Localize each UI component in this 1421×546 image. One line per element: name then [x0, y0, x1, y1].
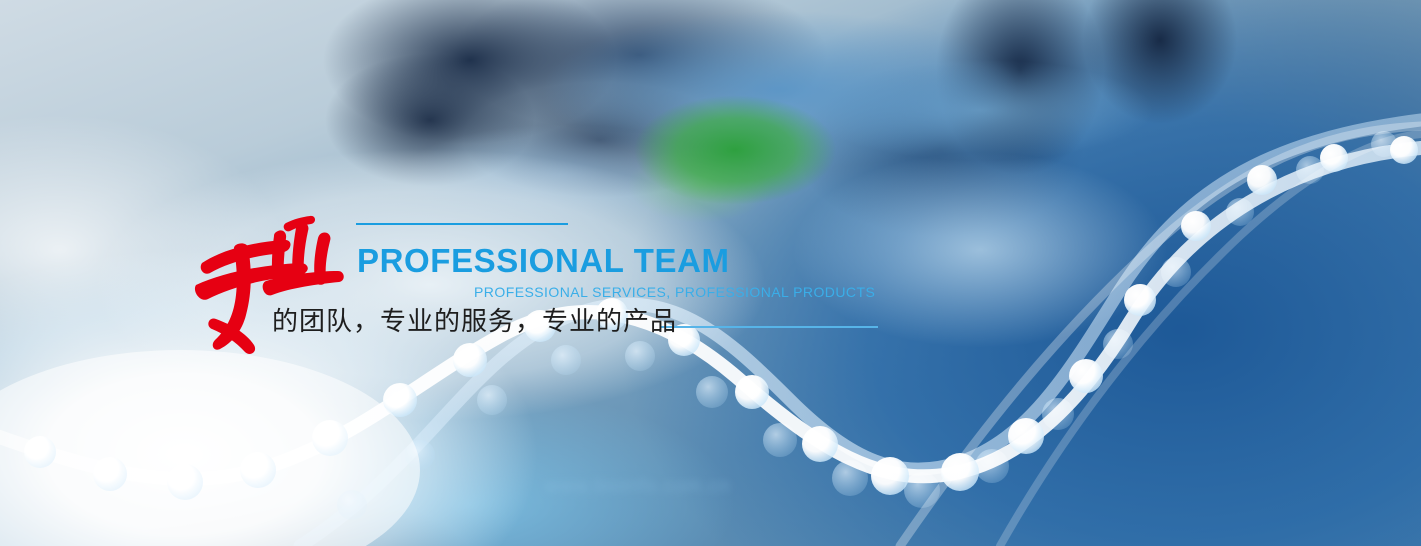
banner-content: PROFESSIONAL TEAM PROFESSIONAL SERVICES,… — [0, 0, 1421, 546]
divider-line-top — [356, 223, 568, 225]
headline-professional-team: PROFESSIONAL TEAM — [357, 244, 730, 277]
professional-team-banner: www.bioinfo.com.cn — [0, 0, 1421, 546]
chinese-tagline: 的团队，专业的服务，专业的产品 — [272, 306, 677, 339]
subheadline-services-products: PROFESSIONAL SERVICES, PROFESSIONAL PROD… — [474, 285, 875, 299]
divider-line-bottom — [660, 326, 878, 328]
